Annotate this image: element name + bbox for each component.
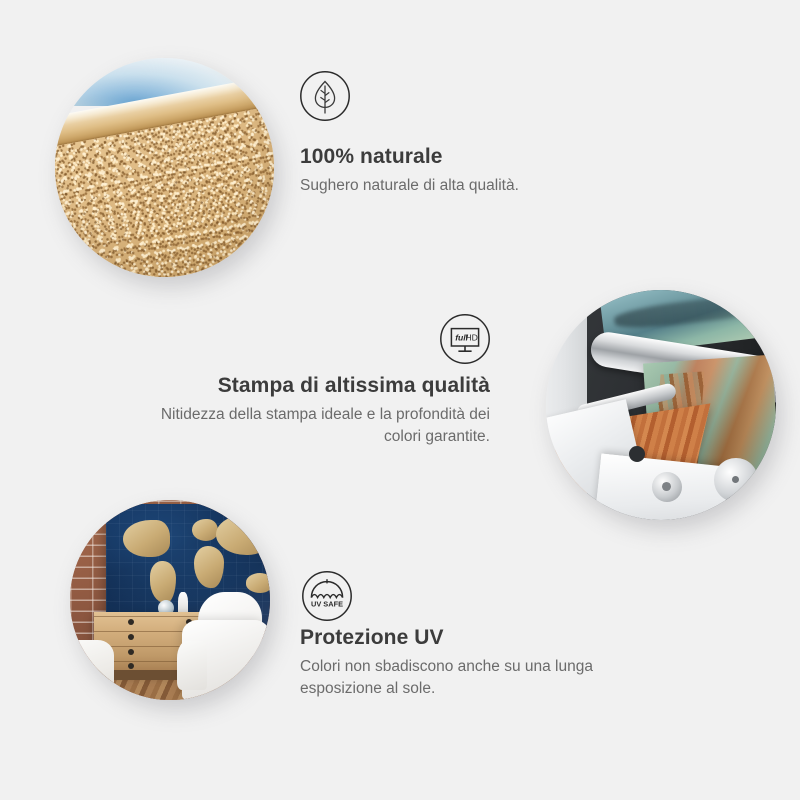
product-features-panel: 100% naturale Sughero naturale di alta q… xyxy=(0,0,800,800)
cork-photo-vignette xyxy=(55,58,274,277)
cork-photo-content xyxy=(55,58,274,277)
svg-text:HD: HD xyxy=(465,333,477,343)
room-photo-armchair-right xyxy=(182,620,270,700)
feature-uv-text: Protezione UV Colori non sbadiscono anch… xyxy=(300,626,670,700)
room-photo-map-south-america xyxy=(150,561,176,603)
feature-natural-description: Sughero naturale di alta qualità. xyxy=(300,175,630,197)
room-photo-map-north-america xyxy=(123,520,171,557)
feature-print-text: Stampa di altissima qualità Nitidezza de… xyxy=(150,374,490,448)
printing-machine-photo xyxy=(546,290,776,520)
room-photo-armchair-left xyxy=(70,640,114,700)
printer-photo-knob-small xyxy=(652,472,682,502)
room-photo-content xyxy=(70,500,270,700)
room-photo-map-europe xyxy=(192,519,218,541)
feature-print-title: Stampa di altissima qualità xyxy=(150,374,490,398)
printer-photo-content xyxy=(546,290,776,520)
feature-natural-text: 100% naturale Sughero naturale di alta q… xyxy=(300,145,630,197)
leaf-icon xyxy=(299,70,351,122)
room-photo-map-australia xyxy=(246,573,270,593)
uv-safe-umbrella-icon: UV SAFE xyxy=(301,570,353,622)
uv-safe-label: UV SAFE xyxy=(311,600,343,609)
room-photo-map-asia xyxy=(216,515,270,555)
cork-texture-photo xyxy=(55,58,274,277)
living-room-world-map-photo xyxy=(70,500,270,700)
feature-uv-title: Protezione UV xyxy=(300,626,670,650)
room-photo-map-africa xyxy=(194,546,223,588)
fullhd-monitor-icon: full HD xyxy=(439,313,491,365)
feature-print-description: Nitidezza della stampa ideale e la profo… xyxy=(150,404,490,448)
printer-photo-knob-large xyxy=(714,458,758,502)
feature-natural-title: 100% naturale xyxy=(300,145,630,169)
feature-uv-description: Colori non sbadiscono anche su una lunga… xyxy=(300,656,670,700)
